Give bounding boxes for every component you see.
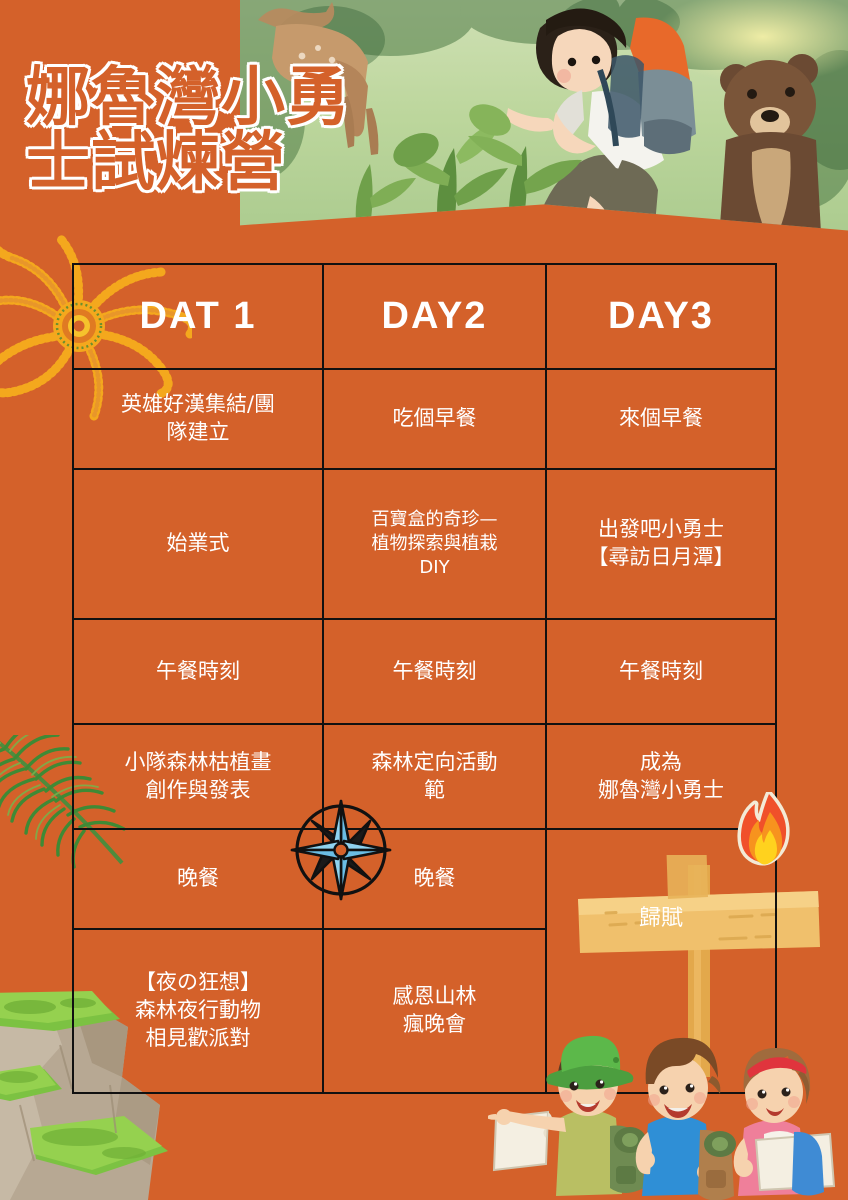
campfire-flame-icon	[735, 792, 803, 878]
cell-day3-lunch: 午餐時刻	[546, 619, 776, 724]
cell-day1-breakfast: 英雄好漢集結/團隊建立	[73, 369, 323, 469]
kid-middle	[636, 1038, 736, 1200]
page-title-line-2: 士試煉營	[26, 131, 446, 196]
cell-day2-lunch: 午餐時刻	[323, 619, 546, 724]
table-header-row: DAT 1 DAY2 DAY3	[73, 264, 776, 369]
cell-day1-lunch: 午餐時刻	[73, 619, 323, 724]
poster-canvas: 娜魯灣小勇 士試煉營 DAT 1 DAY2 DAY3 英雄好漢集結/團隊建立 吃…	[0, 0, 848, 1200]
table-row: 晚餐 晚餐 歸賦	[73, 829, 776, 929]
page-title-line-1: 娜魯灣小勇	[26, 66, 446, 131]
table-row: 始業式 百寶盒的奇珍—植物探索與植栽DIY 出發吧小勇士【尋訪日月潭】	[73, 469, 776, 619]
table-row: 午餐時刻 午餐時刻 午餐時刻	[73, 619, 776, 724]
cell-day2-breakfast: 吃個早餐	[323, 369, 546, 469]
table-row: 英雄好漢集結/團隊建立 吃個早餐 來個早餐	[73, 369, 776, 469]
cell-day3-morning: 出發吧小勇士【尋訪日月潭】	[546, 469, 776, 619]
column-header-day3: DAY3	[546, 264, 776, 369]
cell-day3-breakfast: 來個早餐	[546, 369, 776, 469]
column-header-day2: DAY2	[323, 264, 546, 369]
cell-day2-morning: 百寶盒的奇珍—植物探索與植栽DIY	[323, 469, 546, 619]
table-row: 小隊森林枯植畫創作與發表 森林定向活動範 成為娜魯灣小勇士	[73, 724, 776, 829]
three-hiking-kids-icon	[488, 1022, 848, 1200]
cell-day1-morning: 始業式	[73, 469, 323, 619]
kid-right	[734, 1048, 834, 1196]
cell-day1-night: 【夜の狂想】森林夜行動物相見歡派對	[73, 929, 323, 1093]
compass-rose-icon	[286, 795, 396, 905]
bear	[718, 54, 822, 254]
schedule-table: DAT 1 DAY2 DAY3 英雄好漢集結/團隊建立 吃個早餐 來個早餐 始業…	[72, 263, 777, 1094]
page-title: 娜魯灣小勇 士試煉營	[26, 66, 446, 197]
cell-day3-departure-label: 歸賦	[555, 904, 767, 933]
kid-left	[488, 1036, 646, 1196]
column-header-day1: DAT 1	[73, 264, 323, 369]
